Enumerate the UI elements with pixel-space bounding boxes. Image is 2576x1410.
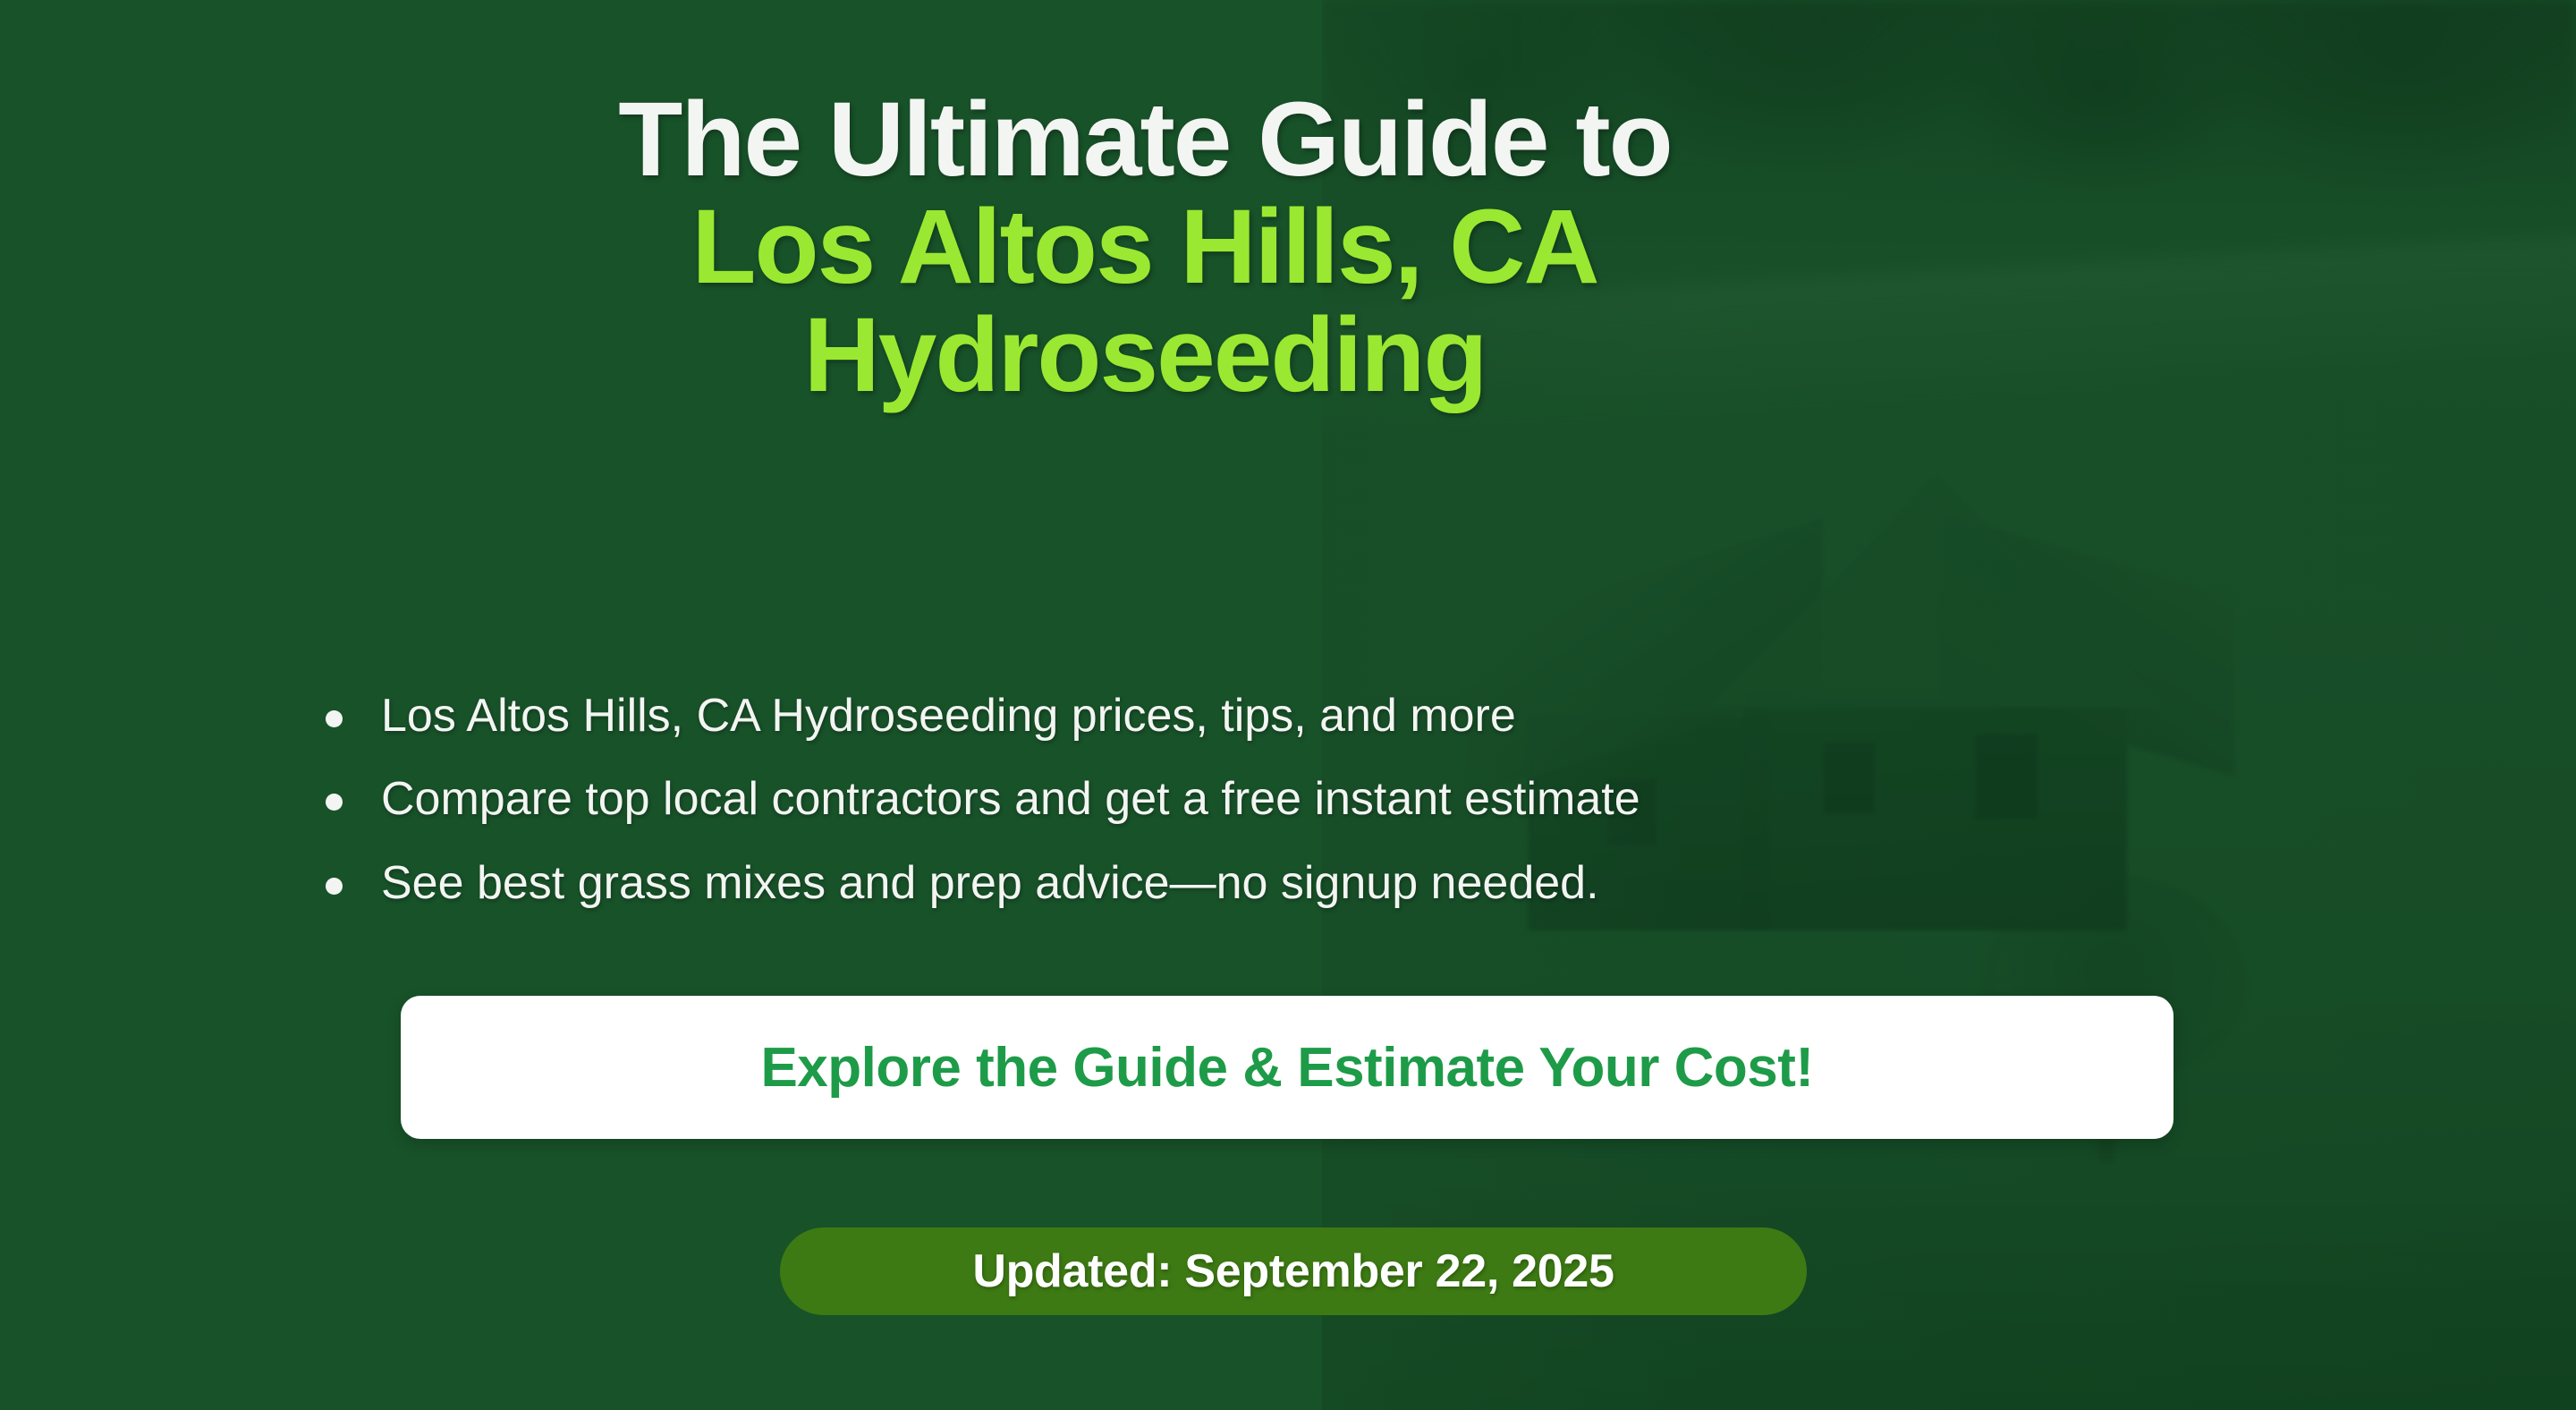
- feature-bullet-list: Los Altos Hills, CA Hydroseeding prices,…: [318, 689, 2376, 939]
- updated-date-badge: Updated: September 22, 2025: [780, 1227, 1807, 1315]
- headline-line-2: Los Altos Hills, CA: [0, 193, 2290, 301]
- page-title: The Ultimate Guide to Los Altos Hills, C…: [0, 86, 2290, 409]
- hero-content: The Ultimate Guide to Los Altos Hills, C…: [0, 0, 2576, 1410]
- list-item: Compare top local contractors and get a …: [318, 772, 2376, 826]
- explore-guide-cta-button[interactable]: Explore the Guide & Estimate Your Cost!: [401, 996, 2173, 1139]
- list-item: See best grass mixes and prep advice—no …: [318, 856, 2376, 910]
- headline-line-3: Hydroseeding: [0, 302, 2290, 409]
- headline-line-1: The Ultimate Guide to: [0, 86, 2290, 193]
- updated-date-label: Updated: September 22, 2025: [972, 1244, 1614, 1298]
- list-item: Los Altos Hills, CA Hydroseeding prices,…: [318, 689, 2376, 743]
